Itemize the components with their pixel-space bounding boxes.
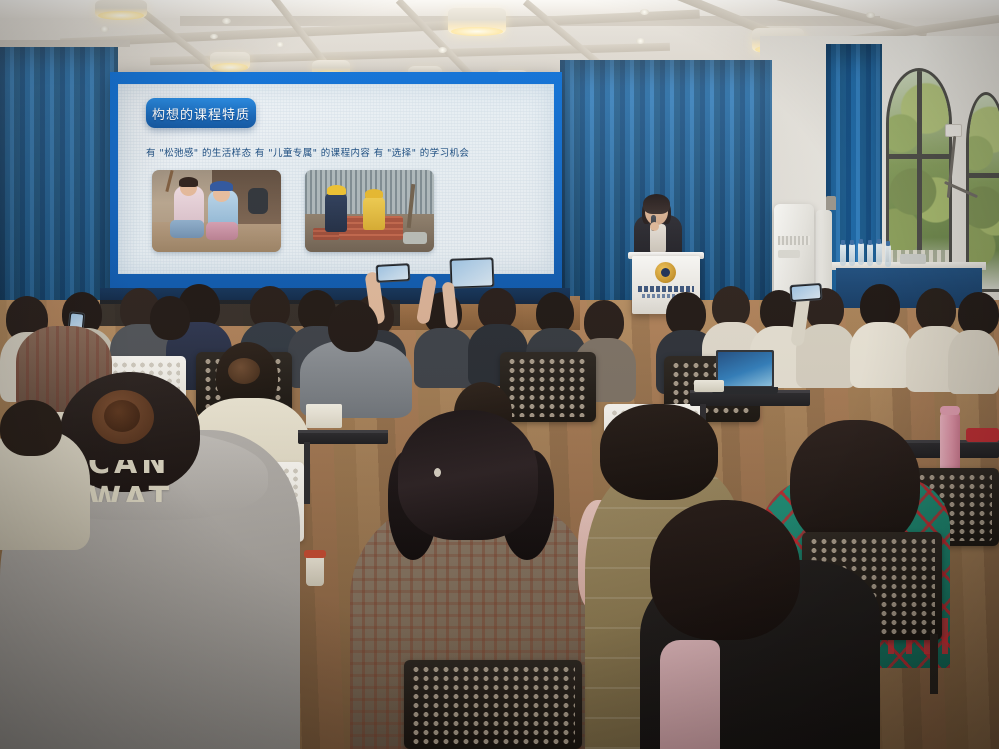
slide-photo-children-playing: [152, 170, 281, 252]
cup[interactable]: [306, 556, 324, 586]
photo-child-hardhat: [327, 185, 346, 195]
chair-leg: [930, 634, 938, 694]
red-item-on-desk: [966, 428, 999, 442]
phone-screen: [792, 285, 821, 300]
audience-torso: [948, 330, 999, 394]
slide-title-pill: 构想的课程特质: [146, 98, 256, 128]
speaker-hand: [650, 222, 659, 231]
laptop[interactable]: [716, 350, 776, 396]
cup-lid: [304, 550, 326, 558]
wall-lamp: [826, 196, 836, 210]
ceiling-light: [95, 0, 147, 18]
hair-scrunchie: [228, 358, 260, 384]
hair-bun-inner: [104, 400, 140, 432]
photo-child-dark-coat: [325, 192, 347, 232]
audience-torso: [850, 322, 912, 388]
wall-outlet: [945, 124, 962, 137]
chair-perforation: [507, 357, 589, 417]
person-plaid-head: [398, 410, 538, 540]
water-bottle: [858, 243, 864, 265]
audience-head: [150, 296, 190, 340]
speaker-hair: [643, 194, 670, 214]
desk-leg: [304, 442, 310, 504]
ac-control-panel[interactable]: [778, 250, 800, 258]
photo-child-left-legs: [170, 220, 204, 238]
photo-child-hardhat: [365, 189, 383, 198]
notebook[interactable]: [694, 380, 724, 392]
photo-scene: 构想的课程特质 有 "松弛感" 的生活样态 有 "儿童专属" 的课程内容 有 "…: [0, 0, 999, 749]
photo-adult-figure: [248, 188, 268, 214]
laptop-lid: [716, 350, 774, 388]
photo-child-left-hair: [179, 177, 198, 187]
smartphone-recording[interactable]: [789, 283, 822, 302]
tablet-screen: [452, 259, 493, 286]
slide-subtitle: 有 "松弛感" 的生活样态 有 "儿童专属" 的课程内容 有 "选择" 的学习机…: [146, 145, 469, 159]
podium-emblem-mark-icon: [661, 268, 670, 277]
recessed-spotlight: [210, 34, 218, 39]
recessed-spotlight: [636, 38, 645, 44]
pink-sleeve: [660, 640, 720, 749]
recessed-spotlight: [276, 42, 284, 47]
black-chair[interactable]: [500, 352, 596, 422]
smartphone-recording[interactable]: [376, 263, 411, 283]
recessed-spotlight: [100, 26, 109, 32]
curtain-rail: [0, 40, 130, 47]
recessed-spotlight: [438, 47, 447, 53]
phone-screen: [378, 265, 409, 281]
audience-head: [0, 400, 62, 456]
photo-child-yellow: [363, 196, 385, 230]
arched-window: [886, 68, 952, 282]
ceiling-light: [448, 8, 506, 34]
desk: [298, 430, 388, 444]
slide-title: 构想的课程特质: [152, 104, 250, 123]
audience-head: [328, 300, 378, 352]
slide-subtitle-row: 有 "松弛感" 的生活样态 有 "儿童专属" 的课程内容 有 "选择" 的学习机…: [146, 142, 546, 162]
window-mullion: [889, 154, 949, 159]
window-mullion: [969, 173, 999, 178]
slide-photo-brick-stacking: [305, 170, 434, 252]
person-vest-head: [600, 404, 718, 500]
tablet-recording[interactable]: [449, 257, 494, 289]
window-mullion: [917, 71, 922, 279]
water-bottle: [876, 243, 882, 265]
chair-perforation: [411, 665, 575, 744]
desk-edge: [298, 430, 388, 433]
notebook[interactable]: [306, 404, 342, 428]
hoodie-back-text: CAN WAT: [88, 460, 238, 502]
laptop-screen: [718, 352, 772, 386]
person-black-puffer-head: [650, 500, 800, 640]
photo-child-right-legs: [206, 222, 238, 240]
photo-toy-stick: [165, 170, 173, 192]
photo-child-right-hat: [210, 181, 233, 191]
black-chair[interactable]: [404, 660, 582, 749]
recessed-spotlight: [866, 12, 875, 18]
water-bottle: [867, 244, 873, 266]
recessed-spotlight: [222, 18, 231, 24]
photo-basin: [403, 232, 427, 244]
thermos-cap: [940, 406, 960, 415]
recessed-spotlight: [640, 9, 649, 15]
water-bottle: [885, 245, 891, 267]
ceiling-light: [210, 52, 250, 70]
earring: [434, 468, 441, 477]
table-box: [900, 254, 926, 264]
water-bottle: [849, 244, 855, 266]
person-green-head: [790, 420, 920, 550]
water-bottle: [840, 244, 846, 266]
ac-vent: [778, 236, 810, 245]
window-foliage: [969, 95, 999, 289]
audience-torso: [414, 328, 474, 388]
